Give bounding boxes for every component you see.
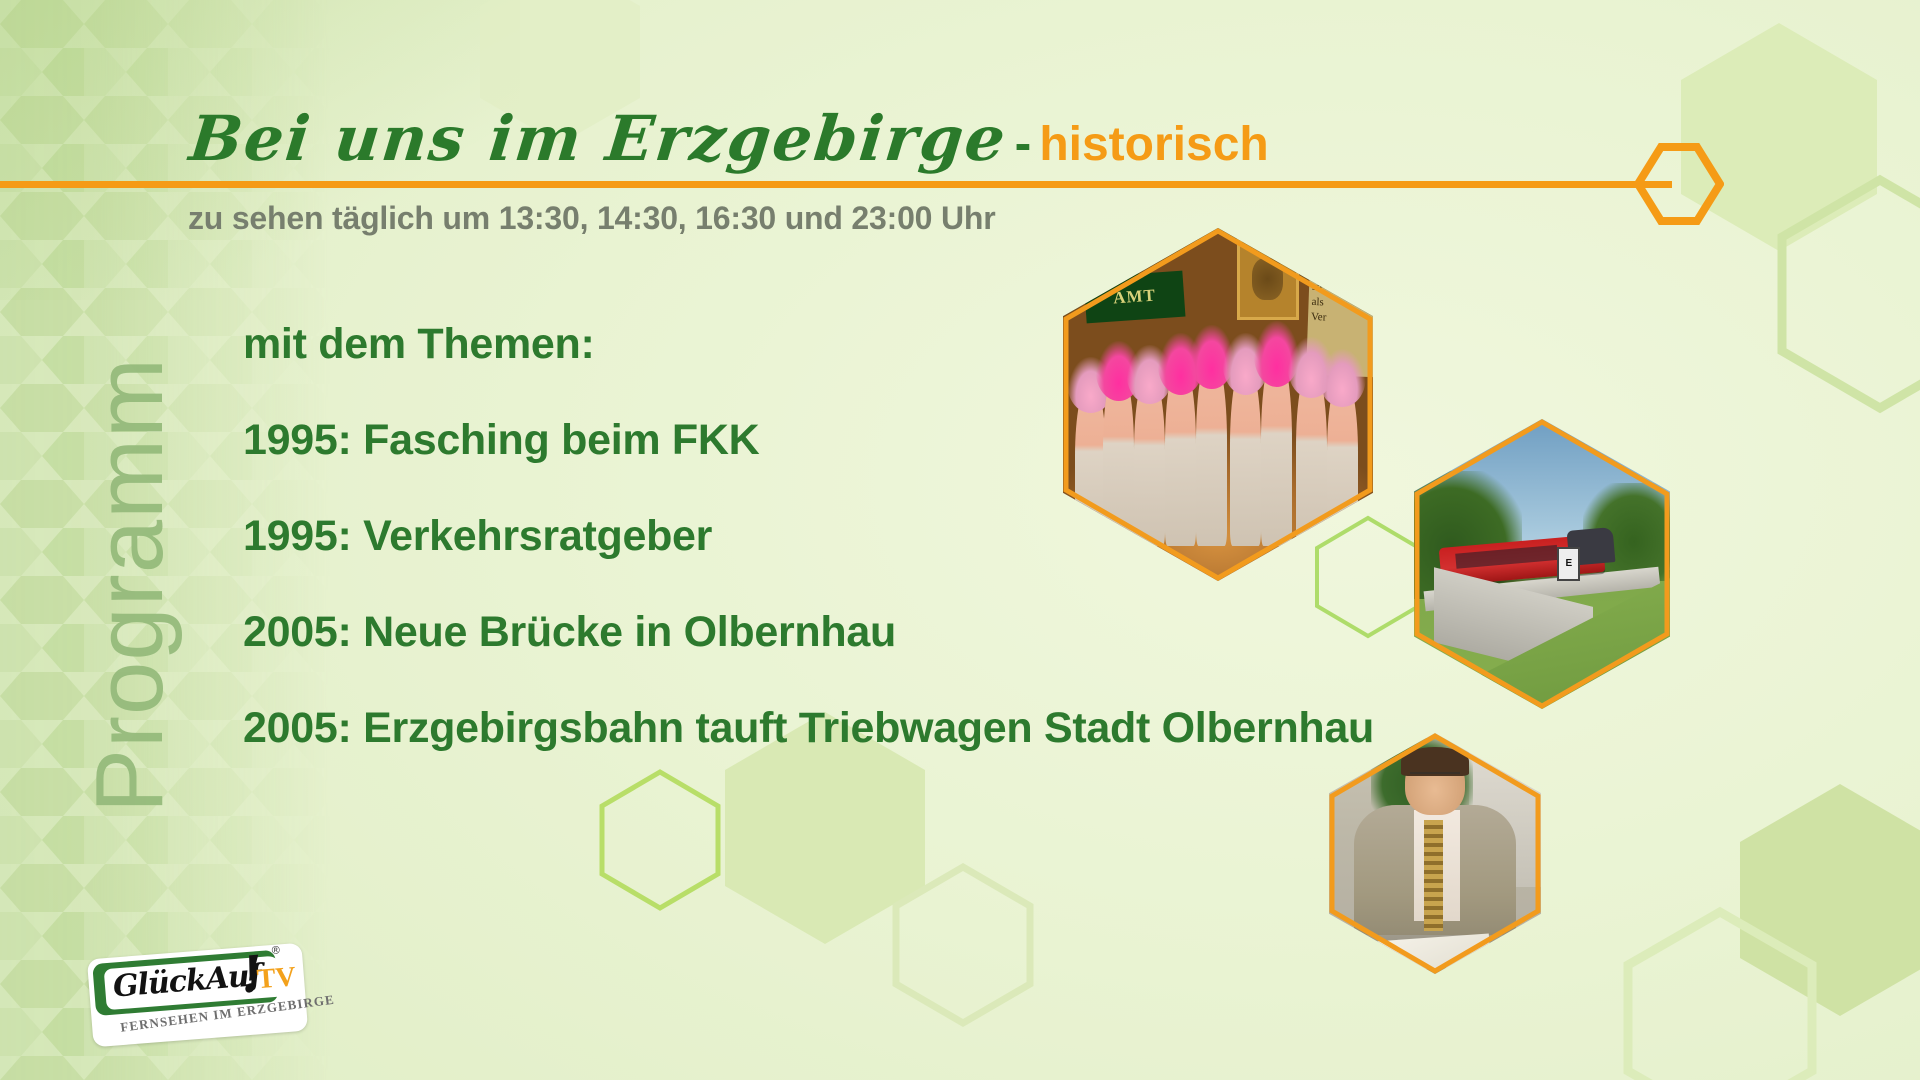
program-item-3: 2005: Erzgebirgsbahn tauft Triebwagen St… — [243, 704, 1343, 753]
title-accent-part: historisch — [1039, 118, 1268, 171]
logo-registered-icon: ® — [271, 944, 280, 957]
vertical-section-label: Programm — [75, 265, 185, 905]
header-divider-rule — [0, 181, 1672, 188]
title-script-part: Bei uns im Erzgebirge — [187, 108, 1010, 170]
photo-train-logo-mark: E — [1557, 547, 1580, 582]
logo-tv-mark: TV — [256, 961, 297, 996]
program-item-2: 2005: Neue Brücke in Olbernhau — [243, 608, 1343, 657]
page-title: Bei uns im Erzgebirge-historisch — [190, 108, 1269, 170]
slide-root: Bei uns im Erzgebirge-historisch zu sehe… — [0, 0, 1920, 1080]
hexagon-outline-icon — [1634, 143, 1724, 225]
broadcast-times-subtitle: zu sehen täglich um 13:30, 14:30, 16:30 … — [188, 200, 995, 237]
title-dash: - — [1007, 115, 1040, 171]
glueckauf-tv-logo[interactable]: GlückAuf ! TV ® FERNSEHEN IM ERZGEBIRGE — [87, 943, 308, 1048]
